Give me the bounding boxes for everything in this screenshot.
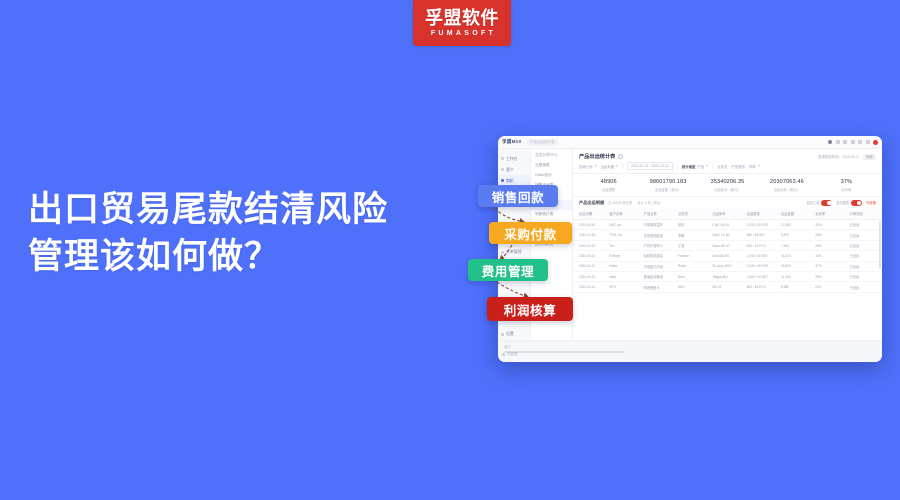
cell-qty: 1,560 / 24 SET <box>745 271 779 281</box>
chart-toggle-group[interactable]: 显示图表 <box>836 200 862 206</box>
submenu-item-profit[interactable]: 利润统计表 <box>531 210 572 220</box>
cell-amount: 6,980 <box>779 282 813 292</box>
more-icon[interactable] <box>828 140 832 144</box>
headline-line-1: 出口贸易尾款结清风险 <box>28 190 388 229</box>
kpi-label: 出运金额（美元） <box>638 187 697 192</box>
cell-salesperson: 张伟 <box>676 220 710 230</box>
cell-product: 陶瓷餐盘 B <box>642 282 676 292</box>
sidebar-item-order[interactable]: 订单管理 <box>498 247 530 258</box>
cell-qty: 980 / 18 SET <box>745 230 779 240</box>
column-settings-link[interactable]: 列设置 <box>866 200 876 205</box>
cell-qty: 640 / 12 PCS <box>745 240 779 250</box>
cell-customer: ABC Ltd <box>607 220 641 230</box>
filter-category[interactable]: 产品类别 <box>731 164 745 169</box>
cell-salesperson: Fortune <box>676 251 710 261</box>
cell-date: 2023-04-12 <box>573 271 607 281</box>
cell-date: 2023-04-14 <box>573 251 607 261</box>
cell-product: 不锈钢刀叉组 <box>642 261 676 271</box>
filter-currency-label: 币种 <box>749 164 756 169</box>
table-row[interactable]: 2023-04-12 Nela 玻璃密封罐组 Nela Teigna-901 1… <box>573 271 882 281</box>
page-title: 出口贸易尾款结清风险 管理该如何做？ <box>28 186 483 280</box>
cell-salesperson: Nela <box>676 271 710 281</box>
cell-shipment-no: Hpuu-NF-x7 <box>710 240 744 250</box>
kpi-value: 20307063.46 <box>757 179 816 185</box>
filter-company-label: 查询公司 <box>579 164 593 169</box>
cell-salesperson: Rada <box>676 261 710 271</box>
sidebar-item-label: 工作台 <box>506 156 518 162</box>
col-status[interactable]: 订单状态 <box>848 209 882 220</box>
sidebar-item-settings[interactable]: 设置 <box>498 329 530 340</box>
submenu-item-performance[interactable]: 业绩报表 <box>531 161 572 171</box>
cell-qty: 1,040 / 30 SET <box>745 251 779 261</box>
sidebar-item-label: 商机 <box>506 178 514 184</box>
table-row[interactable]: 2023-04-15 TOLL Inc 多层置物架组 李娜 Hxu2-LX-B3… <box>573 230 882 240</box>
vertical-scrollbar[interactable] <box>879 221 881 269</box>
table-actions: 显示汇总 显示图表 列设置 <box>807 200 876 206</box>
cell-amount: 15,210 <box>779 251 813 261</box>
cell-status: 已出运 <box>848 240 882 250</box>
footer-progress-bar <box>504 351 624 353</box>
col-customer[interactable]: 客户名称 <box>607 209 641 220</box>
cell-product: 不锈钢保温杯 <box>642 220 676 230</box>
chevron-down-icon <box>706 165 708 167</box>
chart-toggle-label: 显示图表 <box>836 200 849 205</box>
window-controls <box>828 140 878 145</box>
kpi-shipment-amount: 98601790.183 出运金额（美元） <box>638 179 697 192</box>
cell-salesperson: 李娜 <box>676 230 710 240</box>
content-header: 产品出运统计表 数据更新时间：2023-04-17 刷新 <box>573 149 882 162</box>
sidebar-item-label: 设置 <box>506 331 514 337</box>
kpi-label: 毛利率 <box>817 187 876 192</box>
table-title: 产品出运明细 <box>579 200 604 206</box>
app-window: 孚盟M1X 产品出运统计表 工作台 客户 商机 <box>498 136 882 362</box>
chevron-down-icon <box>595 165 597 167</box>
minimize-icon[interactable] <box>836 140 840 144</box>
table-row[interactable]: 2023-04-16 ABC Ltd 不锈钢保温杯 张伟 LJ4F-DA-01 … <box>573 220 882 230</box>
window-footer: 合计 <box>498 340 882 362</box>
table-row[interactable]: 2023-04-13 Rada 不锈钢刀叉组 Rada SL-Amp-0017 … <box>573 261 882 271</box>
cell-status: 已出运 <box>848 261 882 271</box>
col-date[interactable]: 出运日期 <box>573 209 607 220</box>
cell-qty: 800 / 16 PCS <box>745 282 779 292</box>
cell-amount: 12,300 <box>779 220 813 230</box>
kpi-shipment-cost: 35340206.35 出运成本（美元） <box>698 179 757 192</box>
export-info[interactable]: 合计 4 列 | 导出 <box>637 200 660 205</box>
cell-qty: 2,240 / 48 PCS <box>745 261 779 271</box>
cell-shipment-no: Hxu2-LX-B3 <box>710 230 744 240</box>
cell-customer: TOLL Inc <box>607 230 641 240</box>
cell-margin: 26% <box>813 240 847 250</box>
kpi-value: 48906 <box>579 179 638 185</box>
restore-icon[interactable] <box>843 140 847 144</box>
kpi-value: 37% <box>817 179 876 185</box>
chart-toggle[interactable] <box>851 200 862 206</box>
table-body: 2023-04-16 ABC Ltd 不锈钢保温杯 张伟 LJ4F-DA-01 … <box>573 220 882 293</box>
cell-status: 已出运 <box>848 251 882 261</box>
table-head: 出运日期 客户名称 产品名称 业务员 出运单号 出运数量 出运金额 毛利率 订单… <box>573 209 882 220</box>
cell-amount: 9,870 <box>779 230 813 240</box>
footer-status: 已完成 <box>502 352 518 357</box>
cell-date: 2023-04-13 <box>573 261 607 271</box>
brand-logo-en: FUMASOFT <box>431 29 496 39</box>
cell-amount: 18,920 <box>779 261 813 271</box>
cell-margin: 37% <box>813 261 847 271</box>
cell-shipment-no: MX-01 <box>710 282 744 292</box>
cell-margin: 28% <box>813 230 847 240</box>
cell-status: 已出运 <box>848 271 882 281</box>
cell-status: 已出运 <box>848 282 882 292</box>
window-titlebar: 孚盟M1X 产品出运统计表 <box>498 136 882 149</box>
cell-date: 2023-04-16 <box>573 220 607 230</box>
filter-date-range[interactable]: 2023-01-01 - 2023-12-31 <box>622 162 673 170</box>
kpi-value: 98601790.183 <box>638 179 697 185</box>
cell-product: 户外折叠椅 B <box>642 240 676 250</box>
kpi-shipment-count: 48906 出运票数 <box>579 179 638 192</box>
refresh-button[interactable]: 刷新 <box>863 154 876 160</box>
kpi-label: 出运成本（美元） <box>698 187 757 192</box>
customer-icon <box>501 168 504 171</box>
filter-toolbar: 查询公司 出运年度 2023-01-01 - 2023-12-31 统计维度 产… <box>573 162 882 174</box>
sidebar-item-label: 客户 <box>506 167 514 173</box>
filter-currency[interactable]: 币种 <box>749 164 760 169</box>
kpi-margin: 37% 毛利率 <box>817 179 876 192</box>
sidebar-item-label: 订单管理 <box>506 249 522 255</box>
filter-dimension[interactable]: 统计维度 产品 <box>677 164 708 169</box>
report-title: 产品出运统计表 <box>579 153 615 160</box>
flow-badge-sales[interactable]: 销售回款 <box>478 185 558 207</box>
table-header-row: 出运日期 客户名称 产品名称 业务员 出运单号 出运数量 出运金额 毛利率 订单… <box>573 209 882 220</box>
cell-margin: 34% <box>813 251 847 261</box>
table-row[interactable]: 2023-04-15 Teo 户外折叠椅 B 王强 Hpuu-NF-x7 640… <box>573 240 882 250</box>
col-shipment-no[interactable]: 出运单号 <box>710 209 744 220</box>
cell-date: 2023-04-15 <box>573 230 607 240</box>
cell-product: 多层置物架组 <box>642 230 676 240</box>
filter-dimension-value: 产品 <box>697 164 704 169</box>
submenu-item-order-stats[interactable]: Order统计 <box>531 171 572 181</box>
filter-year[interactable]: 出运年度 <box>601 164 619 169</box>
kpi-value: 35340206.35 <box>698 179 757 185</box>
gear-icon <box>501 333 504 336</box>
record-count: 共 48906 条记录 <box>608 200 632 205</box>
cell-margin: 31% <box>813 220 847 230</box>
opportunity-icon <box>501 179 504 182</box>
chevron-down-icon <box>616 165 618 167</box>
updated-info: 数据更新时间：2023-04-17 刷新 <box>818 154 876 159</box>
cell-status: 已出运 <box>848 220 882 230</box>
headline-line-2: 管理该如何做？ <box>28 233 483 280</box>
flow-badge-expense[interactable]: 费用管理 <box>468 259 548 281</box>
flow-badge-purchase[interactable]: 采购付款 <box>489 222 572 244</box>
brand-logo-badge: 孚盟软件 FUMASOFT <box>413 0 511 46</box>
cell-customer: MYY <box>607 282 641 292</box>
cell-shipment-no: LJ4F-DA-01 <box>710 220 744 230</box>
filter-salesperson[interactable]: 业务员 <box>712 164 727 169</box>
cell-shipment-no: SL-Amp-0017 <box>710 261 744 271</box>
col-salesperson[interactable]: 业务员 <box>676 209 710 220</box>
table-toolbar: 产品出运明细 共 48906 条记录 合计 4 列 | 导出 显示汇总 显示图表… <box>573 197 882 209</box>
kpi-gross-profit: 20307063.46 出运毛利（美元） <box>757 179 816 192</box>
col-amount[interactable]: 出运金额 <box>779 209 813 220</box>
cell-margin: 29% <box>813 271 847 281</box>
order-icon <box>501 251 504 254</box>
app-logo-label: 孚盟M1X <box>502 139 522 145</box>
cell-customer: Rada <box>607 261 641 271</box>
footer-label: 合计 <box>504 344 624 349</box>
status-dot-icon <box>502 353 505 356</box>
data-table: 出运日期 客户名称 产品名称 业务员 出运单号 出运数量 出运金额 毛利率 订单… <box>573 209 882 293</box>
table-row[interactable]: 2023-04-11 MYY 陶瓷餐盘 B MJH MX-01 800 / 16… <box>573 282 882 292</box>
cell-customer: Fortune <box>607 251 641 261</box>
refresh-icon[interactable] <box>618 154 623 159</box>
filter-salesperson-label: 业务员 <box>717 164 727 169</box>
footer-summary: 合计 <box>504 344 624 353</box>
cell-amount: 7,640 <box>779 240 813 250</box>
chevron-down-icon <box>758 165 760 167</box>
content-panel: 产品出运统计表 数据更新时间：2023-04-17 刷新 查询公司 出运年度 2… <box>573 149 882 340</box>
summary-toggle-group[interactable]: 显示汇总 <box>807 200 833 206</box>
cell-product: 硅胶厨具套装 <box>642 251 676 261</box>
toggle-knob <box>857 201 861 205</box>
cell-amount: 11,430 <box>779 271 813 281</box>
cell-status: 已出运 <box>848 230 882 240</box>
cell-customer: Teo <box>607 240 641 250</box>
sidebar-item-customer[interactable]: 客户 <box>498 164 530 175</box>
footer-status-text: 已完成 <box>507 352 518 357</box>
brand-logo-cn: 孚盟软件 <box>425 8 499 28</box>
cell-salesperson: MJH <box>676 282 710 292</box>
settings-icon[interactable] <box>851 140 855 144</box>
cell-salesperson: 王强 <box>676 240 710 250</box>
cell-date: 2023-04-11 <box>573 282 607 292</box>
cell-margin: 22% <box>813 282 847 292</box>
col-margin[interactable]: 毛利率 <box>813 209 847 220</box>
kpi-label: 出运票数 <box>579 187 638 192</box>
help-icon[interactable] <box>858 140 862 144</box>
submenu-title: 业务分析中心 <box>531 153 572 161</box>
cell-customer: Nela <box>607 271 641 281</box>
summary-toggle-label: 显示汇总 <box>807 200 820 205</box>
col-qty[interactable]: 出运数量 <box>745 209 779 220</box>
cell-shipment-no: Teigna-901 <box>710 271 744 281</box>
filter-year-label: 出运年度 <box>601 164 615 169</box>
toggle-knob <box>827 201 831 205</box>
updated-label: 数据更新时间：2023-04-17 <box>818 155 859 159</box>
user-icon[interactable] <box>866 140 870 144</box>
kpi-row: 48906 出运票数 98601790.183 出运金额（美元） 3534020… <box>573 174 882 197</box>
table-row[interactable]: 2023-04-14 Fortune 硅胶厨具套装 Fortune Ami-AB… <box>573 251 882 261</box>
filter-company[interactable]: 查询公司 <box>579 164 597 169</box>
flow-badge-profit[interactable]: 利润核算 <box>487 297 573 321</box>
workbench-icon <box>501 157 504 160</box>
cell-date: 2023-04-15 <box>573 240 607 250</box>
window-tab[interactable]: 产品出运统计表 <box>527 139 558 146</box>
filter-category-label: 产品类别 <box>731 164 745 169</box>
summary-toggle[interactable] <box>821 200 832 206</box>
kpi-label: 出运毛利（美元） <box>757 187 816 192</box>
date-range-value: 2023-01-01 - 2023-12-31 <box>627 162 673 170</box>
close-icon[interactable] <box>873 140 878 145</box>
cell-product: 玻璃密封罐组 <box>642 271 676 281</box>
col-product[interactable]: 产品名称 <box>642 209 676 220</box>
data-table-wrap: 出运日期 客户名称 产品名称 业务员 出运单号 出运数量 出运金额 毛利率 订单… <box>573 209 882 340</box>
cell-shipment-no: Ami-AB-901 <box>710 251 744 261</box>
table-meta: 共 48906 条记录 合计 4 列 | 导出 <box>608 200 660 205</box>
sidebar-item-workbench[interactable]: 工作台 <box>498 153 530 164</box>
filter-dimension-label: 统计维度 <box>682 164 696 169</box>
cell-qty: 1,200 / 20 PCS <box>745 220 779 230</box>
